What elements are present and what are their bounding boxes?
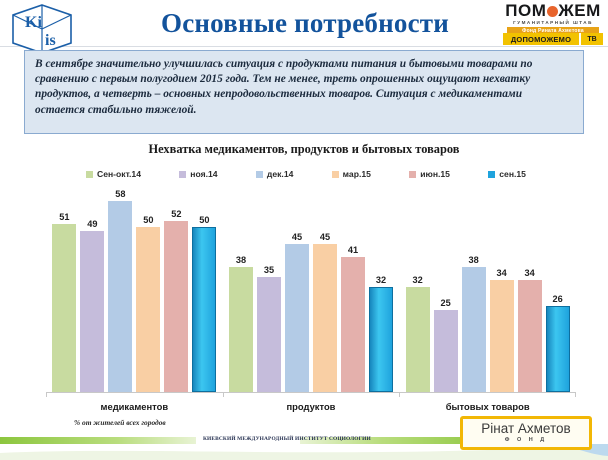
bar-item[interactable]: 41 [341, 188, 365, 392]
bar [192, 227, 216, 392]
legend-swatch-icon [179, 171, 186, 178]
x-axis-tick [46, 392, 47, 397]
chart-footnote: % от жителей всех городов [74, 418, 166, 427]
x-axis-tick [223, 392, 224, 397]
legend-swatch-icon [86, 171, 93, 178]
legend-swatch-icon [488, 171, 495, 178]
bar [108, 201, 132, 392]
legend-item[interactable]: мар.15 [332, 169, 371, 179]
legend-swatch-icon [332, 171, 339, 178]
bar [546, 306, 570, 392]
kiis-logo: Ki is [9, 3, 75, 55]
bar-item[interactable]: 50 [192, 188, 216, 392]
bar [434, 310, 458, 392]
bar [462, 267, 486, 392]
bar-item[interactable]: 52 [164, 188, 188, 392]
legend-item[interactable]: сен.15 [488, 169, 526, 179]
chart-plot-area: 514958505250медикаментов383545454132прод… [46, 188, 576, 393]
bar [341, 257, 365, 392]
bar-item[interactable]: 38 [462, 188, 486, 392]
x-axis-tick [399, 392, 400, 397]
bar-value-label: 34 [514, 268, 546, 278]
pomozhem-wordmark: ПОМЖЕМ [503, 2, 603, 19]
bar [136, 227, 160, 392]
chart-legend: Сен-окт.14ноя.14дек.14мар.15июн.15сен.15 [86, 169, 526, 179]
legend-label: мар.15 [343, 169, 371, 179]
x-axis-line [46, 392, 576, 393]
pomozhem-logo: ПОМЖЕМ ГУМАНИТАРНЫЙ ШТАБ Фонд Рината Ахм… [503, 2, 603, 35]
bar-item[interactable]: 26 [546, 188, 570, 392]
bar-value-label: 25 [430, 298, 462, 308]
bar-value-label: 32 [365, 275, 397, 285]
bar-item[interactable]: 34 [490, 188, 514, 392]
bar-value-label: 38 [458, 255, 490, 265]
slide-canvas: Ki is Основные потребности ПОМЖЕМ ГУМАНИ… [0, 0, 608, 460]
bar-value-label: 58 [104, 189, 136, 199]
bar [285, 244, 309, 392]
dopomozhemo-label: ДОПОМОЖЕМО [503, 33, 579, 45]
header-divider [0, 46, 608, 47]
bar-value-label: 50 [188, 215, 220, 225]
bar-value-label: 35 [253, 265, 285, 275]
bar-item[interactable]: 35 [257, 188, 281, 392]
bar [313, 244, 337, 392]
x-axis-category-label: продуктов [223, 401, 400, 412]
bar-value-label: 49 [76, 219, 108, 229]
kiis-logo-bottom-text: is [45, 32, 56, 49]
bar-item[interactable]: 34 [518, 188, 542, 392]
bar [164, 221, 188, 392]
legend-label: июн.15 [420, 169, 450, 179]
akhmetov-foundation-logo: Рінат Ахметов Ф О Н Д [460, 416, 592, 450]
bar-value-label: 26 [542, 294, 574, 304]
bar [518, 280, 542, 392]
dopomozhemo-tv-badge: ДОПОМОЖЕМО ТВ [503, 33, 603, 45]
bar-item[interactable]: 45 [313, 188, 337, 392]
legend-label: дек.14 [267, 169, 293, 179]
summary-text: В сентябре значительно улучшилась ситуац… [35, 57, 573, 118]
bar-value-label: 38 [225, 255, 257, 265]
akhmetov-name: Рінат Ахметов [463, 420, 589, 437]
bar [80, 231, 104, 392]
kiis-cube-icon: Ki is [9, 3, 75, 55]
bar [490, 280, 514, 392]
pomozhem-word-left: ПОМ [505, 1, 546, 20]
legend-label: Сен-окт.14 [97, 169, 141, 179]
bar-value-label: 32 [402, 275, 434, 285]
bar-item[interactable]: 25 [434, 188, 458, 392]
bar-group: 514958505250 [46, 188, 223, 392]
legend-swatch-icon [409, 171, 416, 178]
bar-item[interactable]: 32 [406, 188, 430, 392]
tv-label: ТВ [579, 33, 603, 45]
bar-item[interactable]: 45 [285, 188, 309, 392]
bar-value-label: 41 [337, 245, 369, 255]
bar-chart: Нехватка медикаментов, продуктов и бытов… [0, 136, 608, 426]
bar [369, 287, 393, 392]
bar [52, 224, 76, 392]
bar-group: 322538343426 [399, 188, 576, 392]
akhmetov-subtitle: Ф О Н Д [463, 437, 589, 444]
bar-value-label: 45 [309, 232, 341, 242]
bar-item[interactable]: 49 [80, 188, 104, 392]
legend-item[interactable]: Сен-окт.14 [86, 169, 141, 179]
legend-label: сен.15 [499, 169, 526, 179]
chart-title: Нехватка медикаментов, продуктов и бытов… [0, 142, 608, 157]
orange-dot-icon [547, 6, 558, 17]
pomozhem-word-right: ЖЕМ [558, 1, 600, 20]
legend-item[interactable]: ноя.14 [179, 169, 217, 179]
bar-item[interactable]: 51 [52, 188, 76, 392]
pomozhem-subtitle: ГУМАНИТАРНЫЙ ШТАБ [503, 19, 603, 26]
bar [229, 267, 253, 392]
bar [406, 287, 430, 392]
footer-accent-left [0, 437, 196, 444]
bar-item[interactable]: 38 [229, 188, 253, 392]
bar-group: 383545454132 [223, 188, 400, 392]
x-axis-category-label: медикаментов [46, 401, 223, 412]
x-axis-tick [575, 392, 576, 397]
x-axis-category-label: бытовых товаров [399, 401, 576, 412]
bar [257, 277, 281, 392]
legend-item[interactable]: июн.15 [409, 169, 450, 179]
kiis-logo-top-text: Ki [25, 14, 42, 31]
bar-item[interactable]: 58 [108, 188, 132, 392]
summary-textbox: В сентябре значительно улучшилась ситуац… [24, 50, 584, 134]
legend-item[interactable]: дек.14 [256, 169, 293, 179]
page-title: Основные потребности [110, 8, 500, 39]
institute-name: КИЕВСКИЙ МЕЖДУНАРОДНЫЙ ИНСТИТУТ СОЦИОЛОГ… [203, 436, 371, 442]
bar-item[interactable]: 50 [136, 188, 160, 392]
legend-label: ноя.14 [190, 169, 217, 179]
bar-item[interactable]: 32 [369, 188, 393, 392]
legend-swatch-icon [256, 171, 263, 178]
